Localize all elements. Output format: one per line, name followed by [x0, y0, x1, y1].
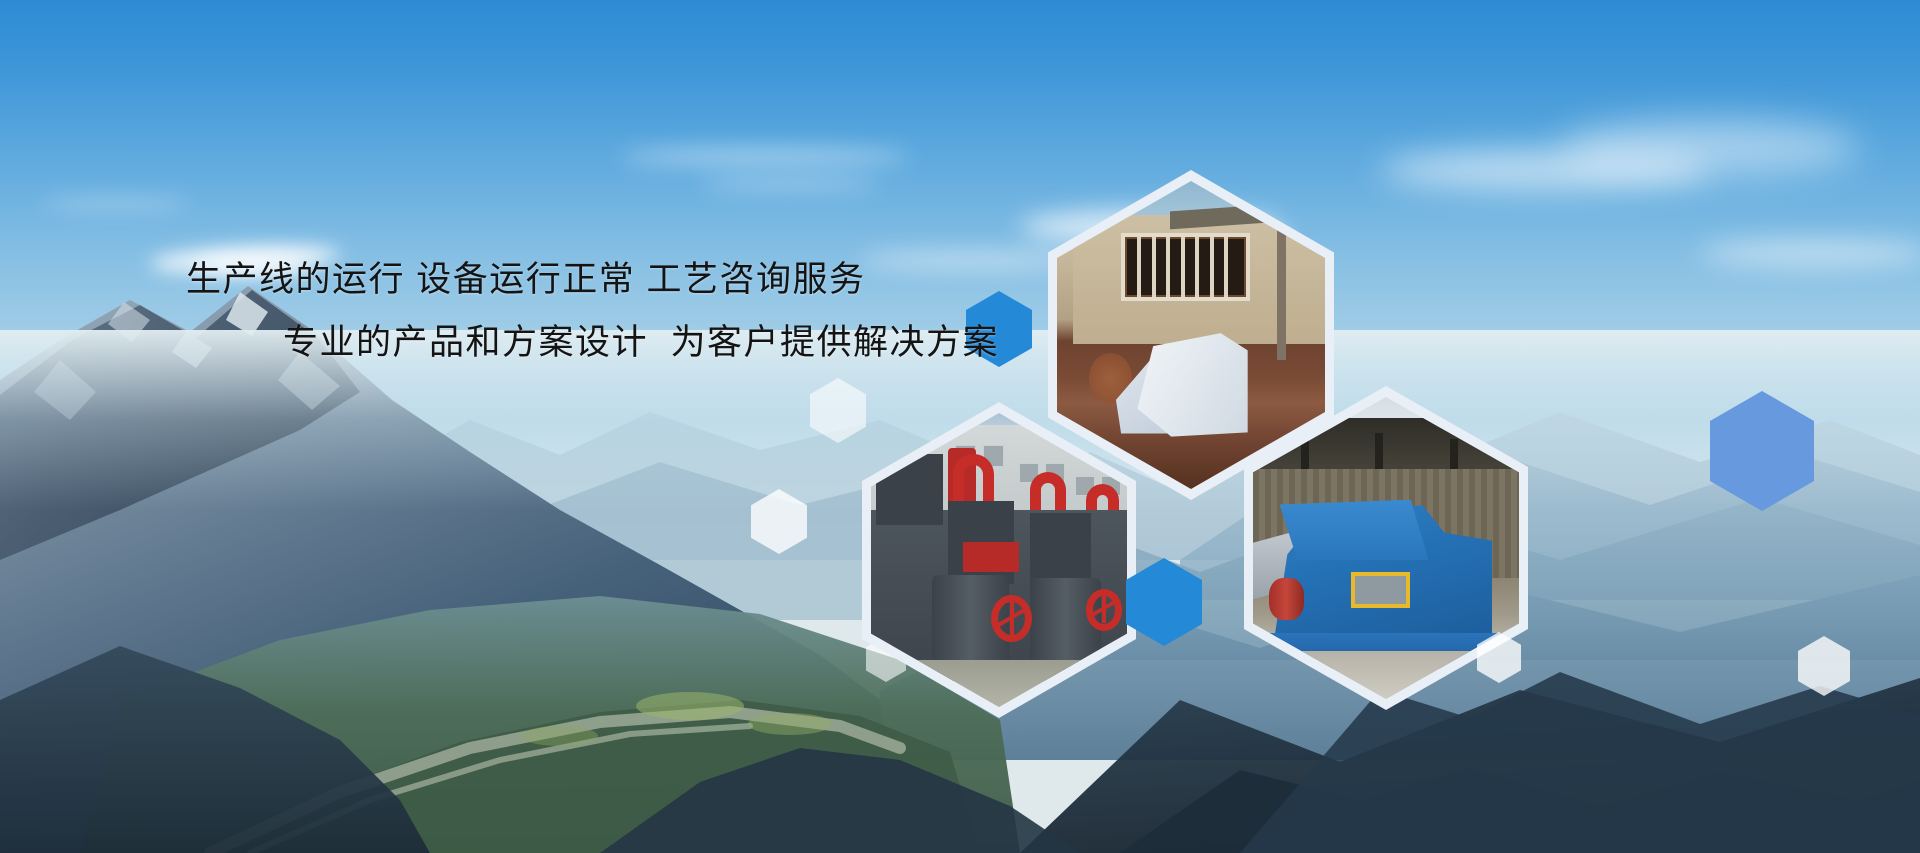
photo-top-window [1121, 233, 1250, 301]
hexagon-photo-top [1057, 181, 1325, 489]
photo-middle-red-arch-1 [953, 454, 994, 501]
hexagon-photo-middle [871, 413, 1127, 707]
headline-block: 生产线的运行 设备运行正常 工艺咨询服务 专业的产品和方案设计 为客户提供解决方… [0, 262, 1000, 360]
photo-right-hopper [1280, 500, 1429, 560]
photo-right-inspection-window [1351, 572, 1410, 608]
hero-banner: 生产线的运行 设备运行正常 工艺咨询服务 专业的产品和方案设计 为客户提供解决方… [0, 0, 1920, 853]
photo-right-motor [1269, 578, 1304, 620]
headline-line-1: 生产线的运行 设备运行正常 工艺咨询服务 [186, 262, 1000, 297]
headline-line-2: 专业的产品和方案设计 为客户提供解决方案 [283, 325, 1000, 360]
photo-middle-red-wheel-2 [1086, 589, 1122, 630]
photo-middle-red-arch-2 [1030, 472, 1066, 513]
photo-top-pole [1277, 212, 1286, 360]
